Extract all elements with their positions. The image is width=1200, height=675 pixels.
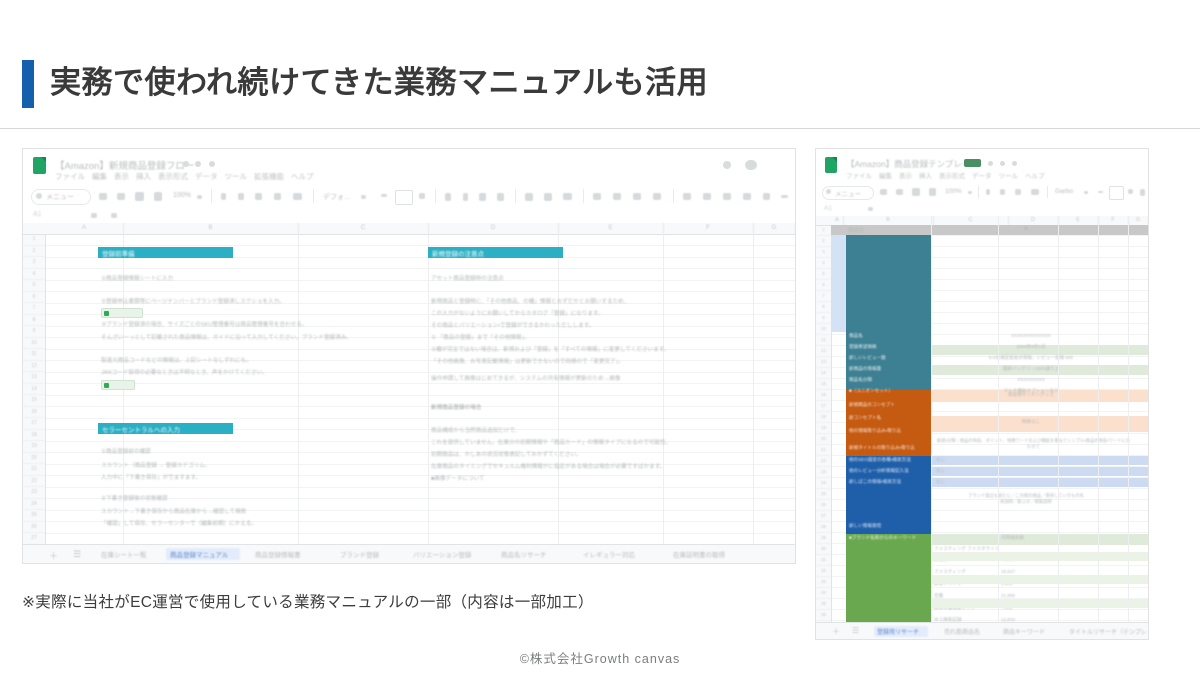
menu-item-format[interactable]: 表示形式: [158, 172, 188, 181]
row-value: なし: [936, 479, 945, 485]
row-header-cell[interactable]: 25: [816, 489, 831, 500]
row-header-cell[interactable]: 12: [816, 346, 831, 357]
menu-item-insert[interactable]: 挿入: [136, 172, 151, 181]
row-header-cell[interactable]: 10: [23, 338, 45, 350]
row-label: 他のSEO設定の各種・検索方法: [849, 457, 911, 463]
row-value: 新規・分類｜商品の特長、ポイント、特徴ワードおよび機能を重ねてシンプル・商品の特…: [936, 438, 1131, 450]
row-header-cell[interactable]: 7: [816, 291, 831, 302]
cell-text: 製造元商品コードなどの情報は、上記シートなしずれにも。: [101, 356, 252, 364]
insert-comment-icon[interactable]: [703, 193, 711, 200]
row-header-cell[interactable]: 27: [23, 533, 45, 545]
grid-row-line: [23, 441, 795, 442]
row-label: 他のレビュー分析情報記入法: [849, 468, 909, 474]
vertical-align-icon[interactable]: [613, 193, 621, 200]
grid-row-line: [23, 395, 795, 396]
right-spreadsheet-window[interactable]: 【Amazon】商品登録テンプレート ファイル編集表示挿入表示形式データツールヘ…: [815, 148, 1149, 640]
row-header-cell[interactable]: 1: [23, 234, 45, 246]
row-header-cell[interactable]: 3: [816, 247, 831, 258]
row-header-cell[interactable]: 11: [23, 349, 45, 361]
horizontal-align-icon[interactable]: [593, 193, 601, 200]
left-grid[interactable]: 1234567891011121314151617181920212223242…: [23, 223, 795, 563]
row-header-cell[interactable]: 29: [816, 533, 831, 544]
font-size-input[interactable]: [395, 190, 413, 205]
row-label: 新しばこの情報・検索方法: [849, 479, 901, 485]
keyword-row-fill: [931, 575, 1148, 584]
row-header-cell[interactable]: 2: [23, 246, 45, 258]
row-header-cell[interactable]: 33: [816, 577, 831, 588]
all-sheets-icon[interactable]: ☰: [73, 549, 81, 560]
row-header-cell[interactable]: 16: [23, 407, 45, 419]
cloud-status-icon[interactable]: [209, 161, 215, 167]
print-icon[interactable]: [135, 192, 144, 201]
cell-text: 「その他画像、お写真記載情報」は更新できないので同様ので「変更完了」。: [431, 357, 624, 365]
row-fill-blue: [931, 456, 1148, 465]
left-row-header-strip: 1234567891011121314151617181920212223242…: [23, 223, 46, 563]
grid-row-line: [23, 418, 795, 419]
cell-text: この入力がないようにお願いしてからカタログ「登録」になります。: [431, 309, 604, 317]
cloud-status-icon[interactable]: [1012, 161, 1017, 166]
toolbar-divider-1: [211, 189, 212, 203]
row-header-cell[interactable]: 13: [23, 372, 45, 384]
redo-icon[interactable]: [896, 189, 903, 195]
menu-item-format[interactable]: 表示形式: [939, 173, 965, 180]
strikethrough-icon[interactable]: [479, 193, 486, 201]
row-header-cell[interactable]: 34: [816, 588, 831, 599]
section-heading-2: セラーセントラルへの入力: [102, 424, 180, 434]
cell-text: JANコード取得の必要なときは不明なとき、声をかけてください。: [101, 368, 268, 376]
decimal-decrease-icon[interactable]: [255, 193, 262, 200]
currency-icon[interactable]: [221, 193, 226, 200]
row-header-cell[interactable]: 20: [23, 453, 45, 465]
row-label: 新規タイトルの取り込み・取り込: [849, 445, 915, 451]
table-header-label-1: 商品名: [848, 226, 865, 234]
cell-text: ③ブランド登録済の場合、サイズごとのSKU管理番号は商品管理番号を合わせる。: [101, 320, 307, 328]
row-label: 新しい情報発信: [849, 523, 881, 529]
font-chevron-down-icon[interactable]: [361, 195, 366, 199]
row-value: ブランド設立も新たに／この間の商品／専用していきもの名称説明／新ふせ／取扱説明: [966, 493, 1086, 505]
row-header-cell[interactable]: 19: [23, 441, 45, 453]
section-heading-bar-2: セラーセントラルへの入力: [98, 423, 233, 434]
row-header-cell[interactable]: 24: [23, 499, 45, 511]
row-label: ■ブランド名称からのキーワード: [849, 535, 916, 541]
row-value: 月間検索数: [1001, 535, 1024, 541]
cell-text: 入力中に「下書き保存」がでますます。: [101, 473, 201, 481]
cell-text: 操作申請して画像はじめてきるが、システムの共有情報が更新のため→画像: [431, 374, 620, 382]
font-size-increase-icon[interactable]: [1128, 189, 1133, 194]
row-fill-blue: [931, 467, 1148, 476]
row-label: 商品名分類: [849, 377, 872, 383]
text-rotation-icon[interactable]: [653, 193, 661, 200]
row-label: 新しいレビュー数: [849, 355, 886, 361]
grid-col-line-5: [1128, 216, 1129, 639]
left-spreadsheet-window[interactable]: 【Amazon】新規商品登録フロー ファイル編集表示挿入表示形式データツール拡張…: [22, 148, 796, 564]
keyword-value: 18,647: [1001, 569, 1015, 574]
menu-item-extensions[interactable]: 拡張機能: [254, 172, 284, 181]
menu-item-data[interactable]: データ: [972, 173, 992, 180]
left-column-header-strip: A B C D E F G: [23, 223, 795, 235]
right-row-header-strip: 1234567891011121314151617181920212223242…: [816, 216, 832, 639]
cell-text: 在庫商品のタイミングでセキュルム権利情報がに指定がある場合は場合が必要ですばかま…: [431, 462, 665, 470]
menu-item-help[interactable]: ヘルプ: [1025, 173, 1045, 180]
row-header-cell[interactable]: 30: [816, 544, 831, 555]
row-header-cell[interactable]: 6: [816, 280, 831, 291]
move-folder-icon[interactable]: [195, 161, 201, 167]
section-heading-bar-1: 登録前準備: [98, 247, 233, 258]
cell-text: 初期商品は、かしあの状況状態表記しておかずてください。: [431, 450, 582, 458]
column-header-e[interactable]: E: [558, 223, 664, 234]
cell-text: その商品とバリエーション・で登録ができるかわっただしします。: [431, 321, 594, 329]
grid-row-line: [23, 383, 795, 384]
grid-row-line: [23, 406, 795, 407]
functions-icon[interactable]: [763, 193, 770, 200]
column-header-b[interactable]: B: [843, 216, 934, 225]
bold-icon[interactable]: [1140, 189, 1145, 196]
row-header-cell[interactable]: 6: [23, 292, 45, 304]
keyword-row-fill: [931, 552, 1148, 561]
toolbar-search-label: メニュー: [46, 192, 74, 202]
row-value: なし: [936, 468, 945, 474]
row-header-cell[interactable]: 35: [816, 599, 831, 610]
zoom-chevron-down-icon[interactable]: [197, 195, 202, 199]
row-header-cell[interactable]: 24: [816, 478, 831, 489]
row-header-cell[interactable]: 19: [816, 423, 831, 434]
toolbar-divider-3: [435, 189, 436, 203]
table-header-row: [831, 225, 1148, 235]
row-header-cell[interactable]: 11: [816, 335, 831, 346]
name-box[interactable]: A1: [824, 205, 832, 212]
menu-item-file[interactable]: ファイル: [55, 172, 85, 181]
redo-icon[interactable]: [117, 193, 125, 200]
grid-col-line-6: [753, 223, 754, 563]
row-header-cell[interactable]: 3: [23, 257, 45, 269]
undo-icon[interactable]: [99, 193, 107, 200]
currency-icon[interactable]: [986, 189, 990, 195]
menu-item-file[interactable]: ファイル: [846, 173, 872, 180]
insert-chart-icon[interactable]: [723, 193, 731, 200]
grid-col-line-3: [428, 223, 429, 563]
more-options-icon[interactable]: [781, 195, 788, 198]
row-header-cell[interactable]: 25: [23, 510, 45, 522]
grid-row-line: [23, 291, 795, 292]
sheet-tab-active[interactable]: 商品登録マニュアル: [166, 548, 240, 560]
cell-text: 「確認」して保存、セラーセンターで（編集前期）にかえる。: [101, 519, 257, 527]
add-sheet-icon[interactable]: ＋: [832, 626, 840, 637]
menu-item-tools[interactable]: ツール: [999, 173, 1019, 180]
cell-text: ②登録申込書類等にページナンバーとブランド登録済しスクショを入力。: [101, 297, 285, 305]
cell-text: 新規商品と登録時に、「その他商品、の欄」情報とおずだかとお願いするため、: [431, 297, 629, 305]
font-size-decrease-icon[interactable]: [1098, 191, 1103, 193]
font-size-input[interactable]: [1109, 186, 1124, 200]
grid-col-line-4: [558, 223, 559, 563]
row-label: ■（ユニオンセット）: [849, 388, 893, 394]
cell-text: ①商品登録情報シートに入力: [101, 274, 173, 282]
font-size-increase-icon[interactable]: [419, 193, 425, 199]
toolbar-divider-5: [583, 189, 584, 203]
row-header-cell[interactable]: 5: [23, 280, 45, 292]
decimal-increase-icon[interactable]: [274, 193, 281, 200]
row-header-cell[interactable]: 5: [816, 269, 831, 280]
row-header-cell[interactable]: 27: [816, 511, 831, 522]
menu-item-data[interactable]: データ: [195, 172, 218, 181]
menu-item-view[interactable]: 表示: [114, 172, 129, 181]
comment-history-icon[interactable]: [723, 161, 731, 169]
row-label: 商品名: [849, 333, 863, 339]
slide-footer-copyright: ©株式会社Growth canvas: [0, 648, 1200, 667]
row-header-cell[interactable]: 14: [816, 368, 831, 379]
row-header-cell[interactable]: 23: [23, 487, 45, 499]
formula-fx-icon: [91, 213, 97, 218]
star-icon[interactable]: [988, 161, 993, 166]
cell-text: スカウント→下書き保存から商品在庫から→確認して検索: [101, 507, 246, 515]
cell-text: ①商品登録前の確認: [101, 447, 151, 455]
grid-col-line-4: [1098, 216, 1099, 639]
status-chip: [101, 380, 135, 390]
row-header-cell[interactable]: 22: [816, 456, 831, 467]
sheet-tab[interactable]: タイトルリサーチ（テンプレ: [1069, 627, 1147, 636]
keyword-row-fill: [931, 599, 1148, 608]
text-color-icon[interactable]: [497, 193, 504, 201]
right-formula-bar[interactable]: A1: [816, 202, 1148, 217]
row-label: 新規商品のコンセプト: [849, 402, 895, 408]
table-header-label-2: ■: [1006, 226, 1046, 232]
share-button[interactable]: [745, 160, 757, 170]
sheet-tab[interactable]: 商品登録情報書: [255, 549, 301, 559]
sheet-tab-active[interactable]: 登録用リサーチ: [874, 626, 928, 637]
sheet-tab[interactable]: イレギュラー対応: [583, 549, 635, 559]
print-icon[interactable]: [912, 188, 920, 196]
column-header-a[interactable]: A: [45, 223, 124, 234]
left-doc-title[interactable]: 【Amazon】新規商品登録フロー: [55, 158, 194, 172]
grid-col-line-3: [1058, 216, 1059, 639]
row-header-cell[interactable]: 31: [816, 555, 831, 566]
right-doc-title[interactable]: 【Amazon】商品登録テンプレート: [846, 158, 979, 170]
row-header-cell[interactable]: 15: [23, 395, 45, 407]
paint-format-icon[interactable]: [154, 192, 162, 201]
row-header-cell[interactable]: 20: [816, 434, 831, 445]
row-value: なし: [936, 457, 945, 463]
row-header-cell[interactable]: 10: [816, 324, 831, 335]
row-header-cell[interactable]: 7: [23, 303, 45, 315]
column-header-g[interactable]: G: [753, 223, 795, 234]
grid-col-line-2: [998, 216, 999, 639]
row-header-cell[interactable]: 18: [816, 412, 831, 423]
right-sheet-tab-strip[interactable]: ＋ ☰ 登録用リサーチ 売れ筋商品名 商品キーワード タイトルリサーチ（テンプレ: [816, 622, 1148, 639]
search-icon[interactable]: [826, 189, 831, 194]
toolbar-search-label: メニュー: [835, 188, 861, 198]
cell-text: これを提供していません。在庫分の初期情報や「商品カード」の情報タイプになるので可…: [431, 438, 671, 446]
font-size-decrease-icon[interactable]: [381, 194, 387, 197]
sheet-tab[interactable]: 商品キーワード: [1003, 627, 1045, 636]
row-header-cell[interactable]: 36: [816, 610, 831, 621]
add-sheet-icon[interactable]: ＋: [49, 549, 58, 562]
row-label: 新コンセプト名: [849, 415, 881, 421]
text-wrap-icon[interactable]: [633, 193, 641, 200]
row-header-cell[interactable]: 8: [23, 315, 45, 327]
row-header-cell[interactable]: 16: [816, 390, 831, 401]
cell-text: スカウント（商品登録 → 登録カテゴリム。: [101, 461, 210, 469]
row-header-cell[interactable]: 17: [23, 418, 45, 430]
row-header-cell[interactable]: 18: [23, 430, 45, 442]
right-toolbar[interactable]: メニュー 100% Garbo: [816, 182, 1148, 203]
sheet-tab[interactable]: 商品名リサーチ: [501, 549, 547, 559]
grid-row-line: [23, 349, 795, 350]
row-header-cell[interactable]: 26: [816, 500, 831, 511]
column-header-e[interactable]: E: [1058, 216, 1099, 225]
cell-text: アセット商品登録時の注意点: [431, 274, 504, 282]
borders-icon[interactable]: [544, 193, 552, 201]
fill-color-icon[interactable]: [525, 193, 533, 201]
sheets-logo-icon: [825, 157, 837, 173]
filter-icon[interactable]: [743, 193, 751, 200]
paint-format-icon[interactable]: [929, 188, 936, 196]
cell-text: 商品構成から当然商品追加だけで、: [431, 426, 520, 434]
left-menu-bar[interactable]: ファイル編集表示挿入表示形式データツール拡張機能ヘルプ: [55, 171, 321, 182]
left-formula-bar[interactable]: A1: [23, 207, 795, 224]
menu-item-edit[interactable]: 編集: [92, 172, 107, 181]
cell-text: ②下書き登録後の状態確認: [101, 494, 168, 502]
cell-text: ① 「商品の登録」まで「その他情報」。: [431, 333, 530, 341]
column-header-g[interactable]: G: [1128, 216, 1148, 225]
row-header-cell[interactable]: 26: [23, 522, 45, 534]
sheet-tab[interactable]: 在庫シート一覧: [101, 549, 147, 559]
cell-text: ②欄が完全ではない場合は、新規および「登録」を「すべての情報」に変更してください…: [431, 345, 669, 353]
row-label: 登録希望価格: [849, 344, 877, 350]
font-chevron-down-icon[interactable]: [1084, 191, 1088, 194]
keyword-value: 21,856: [1001, 593, 1015, 598]
undo-icon[interactable]: [880, 189, 887, 195]
zoom-level[interactable]: 100%: [945, 188, 962, 195]
row-header-cell[interactable]: 8: [816, 302, 831, 313]
name-box[interactable]: A1: [33, 211, 42, 218]
left-toolbar[interactable]: メニュー 100% デフォ…: [23, 185, 795, 208]
bold-icon[interactable]: [445, 193, 451, 201]
row-header-cell[interactable]: 2: [816, 236, 831, 247]
number-format-icon[interactable]: [293, 193, 302, 200]
star-icon[interactable]: [183, 161, 189, 167]
row-label: 新商品の情報量: [849, 366, 881, 372]
grid-row-line: [23, 268, 795, 269]
row-header-cell[interactable]: 22: [23, 476, 45, 488]
row-header-cell[interactable]: 1: [816, 225, 831, 236]
font-family-selector[interactable]: デフォ…: [323, 192, 351, 202]
grid-row-line: [23, 533, 795, 534]
percent-icon[interactable]: [238, 193, 244, 200]
insert-link-icon[interactable]: [683, 193, 691, 200]
row-header-cell[interactable]: 14: [23, 384, 45, 396]
column-header-f[interactable]: F: [663, 223, 754, 234]
row-fill-green: [931, 534, 1148, 545]
cell-text: 新規商品登録の場合: [431, 403, 481, 411]
row-header-cell[interactable]: 32: [816, 566, 831, 577]
header-divider: [0, 128, 1200, 129]
toolbar-divider-2: [313, 189, 314, 203]
right-grid[interactable]: 1234567891011121314151617181920212223242…: [816, 216, 1148, 639]
row-header-cell[interactable]: 28: [816, 522, 831, 533]
section-heading-bar-3: 新規登録の注意点: [428, 247, 563, 258]
title-accent-bar: [22, 60, 34, 108]
row-header-cell[interactable]: 15: [816, 379, 831, 390]
sheet-tab[interactable]: ブランド登録: [340, 549, 379, 559]
menu-item-insert[interactable]: 挿入: [919, 173, 932, 180]
zoom-level[interactable]: 100%: [173, 192, 191, 199]
italic-icon[interactable]: [463, 193, 468, 201]
row-fill-blue: [931, 478, 1148, 487]
row-header-cell[interactable]: 9: [816, 313, 831, 324]
decimal-decrease-icon[interactable]: [1015, 189, 1021, 195]
menu-item-help[interactable]: ヘルプ: [291, 172, 314, 181]
slide-caption: ※実際に当社がEC運営で使用している業務マニュアルの一部（内容は一部加工）: [22, 590, 594, 612]
percent-icon[interactable]: [1000, 189, 1005, 195]
column-header-f[interactable]: F: [1098, 216, 1129, 225]
row-header-cell[interactable]: 4: [23, 269, 45, 281]
toolbar-divider-6: [673, 189, 674, 203]
menu-item-view[interactable]: 表示: [899, 173, 912, 180]
section-heading-3: 新規登録の注意点: [432, 248, 484, 258]
row-header-cell[interactable]: 9: [23, 326, 45, 338]
row-header-cell[interactable]: 17: [816, 401, 831, 412]
formula-fx-icon: [868, 207, 873, 211]
sheets-logo-icon: [33, 157, 46, 174]
menu-item-tools[interactable]: ツール: [225, 172, 248, 181]
product-image-block: [846, 235, 931, 332]
grid-row-line: [23, 245, 795, 246]
row-selection-highlight: [831, 235, 846, 332]
row-label: 他の情報取り込み・取り込: [849, 428, 901, 434]
grid-row-line: [23, 487, 795, 488]
page-title: 実務で使われ続けてきた業務マニュアルも活用: [50, 58, 708, 108]
column-header-b[interactable]: B: [123, 223, 299, 234]
formula-expand-icon[interactable]: [111, 213, 117, 218]
grid-col-line-5: [663, 223, 664, 563]
cell-text: ■画像データについて: [431, 474, 485, 482]
row-header-cell[interactable]: 23: [816, 467, 831, 478]
column-header-d[interactable]: D: [1008, 216, 1059, 225]
row-header-cell[interactable]: 4: [816, 258, 831, 269]
slide-header: 実務で使われ続けてきた業務マニュアルも活用: [0, 52, 1200, 124]
zoom-chevron-down-icon[interactable]: [968, 191, 972, 194]
sheet-tab[interactable]: 在庫証明書の取得: [673, 549, 725, 559]
grid-col-line-2: [298, 223, 299, 563]
column-header-c[interactable]: C: [298, 223, 429, 234]
right-menu-bar[interactable]: ファイル編集表示挿入表示形式データツールヘルプ: [846, 170, 1052, 180]
menu-item-edit[interactable]: 編集: [879, 173, 892, 180]
status-chip: [101, 308, 143, 318]
column-header-d[interactable]: D: [428, 223, 559, 234]
cell-text: そんざいーっとして記載された商品情報は、ガイドに沿って入力してください。ブランド…: [101, 333, 352, 341]
font-family-selector[interactable]: Garbo: [1055, 188, 1073, 195]
search-icon[interactable]: [36, 193, 42, 199]
toolbar-divider-2: [1047, 186, 1048, 198]
sheet-tab[interactable]: 売れ筋商品名: [944, 627, 980, 636]
grid-col-line-1: [931, 216, 932, 639]
toolbar-divider-4: [515, 189, 516, 203]
merge-cells-icon[interactable]: [563, 193, 572, 200]
share-status-badge[interactable]: [964, 159, 981, 167]
row-header-cell[interactable]: 21: [23, 464, 45, 476]
number-format-icon[interactable]: [1031, 189, 1039, 195]
row-header-cell[interactable]: 21: [816, 445, 831, 456]
move-folder-icon[interactable]: [1000, 161, 1005, 166]
all-sheets-icon[interactable]: ☰: [852, 626, 859, 635]
row-header-cell[interactable]: 12: [23, 361, 45, 373]
toolbar-divider-1: [978, 186, 979, 198]
sheet-tab[interactable]: バリエーション登録: [413, 549, 471, 559]
row-header-cell[interactable]: 13: [816, 357, 831, 368]
section-heading-1: 登録前準備: [102, 248, 135, 258]
left-sheet-tab-strip[interactable]: ＋ ☰ 在庫シート一覧 商品登録マニュアル 商品登録情報書 ブランド登録 バリエ…: [23, 544, 795, 563]
